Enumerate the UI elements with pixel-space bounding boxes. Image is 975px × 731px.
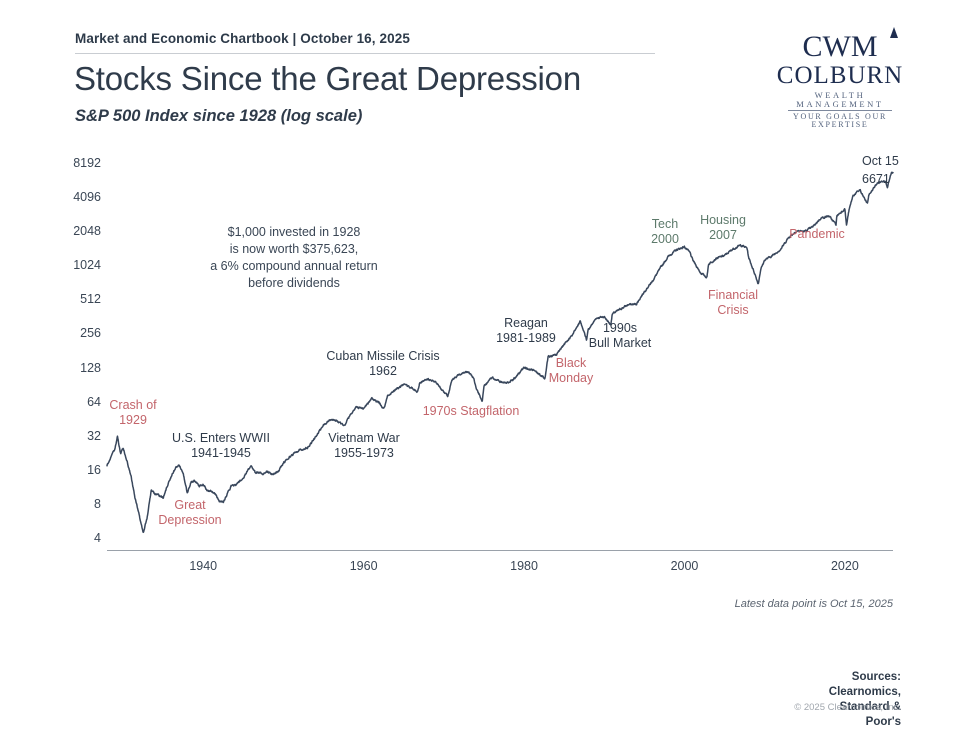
chart-annotation: Financial Crisis xyxy=(708,288,758,318)
chart-annotation: Crash of 1929 xyxy=(109,398,156,428)
chart-annotation: Vietnam War 1955-1973 xyxy=(328,431,400,461)
copyright-note: © 2025 Clearnomics, Inc. xyxy=(794,702,901,713)
sources-note: Sources: Clearnomics, Standard & Poor's xyxy=(827,670,901,730)
chart-annotation: 1970s Stagflation xyxy=(423,404,520,419)
chart-annotation: Tech 2000 xyxy=(651,217,679,247)
chart-annotation: Cuban Missile Crisis 1962 xyxy=(326,349,439,379)
latest-data-note: Latest data point is Oct 15, 2025 xyxy=(735,598,893,610)
chart-annotation: 1990s Bull Market xyxy=(589,321,652,351)
latest-value-label: Oct 15 6671 xyxy=(862,152,899,188)
chart-annotation: U.S. Enters WWII 1941-1945 xyxy=(172,431,270,461)
chart-annotation: Great Depression xyxy=(158,498,221,528)
investment-growth-callout: $1,000 invested in 1928 is now worth $37… xyxy=(210,224,377,292)
chart-annotation: Reagan 1981-1989 xyxy=(496,316,556,346)
chart-annotation: Housing 2007 xyxy=(700,213,746,243)
sp500-log-chart: 481632641282565121024204840968192 194019… xyxy=(0,0,975,731)
chart-annotation: Pandemic xyxy=(789,227,845,242)
chart-annotation: Black Monday xyxy=(549,356,593,386)
sp500-series-line xyxy=(0,0,975,731)
